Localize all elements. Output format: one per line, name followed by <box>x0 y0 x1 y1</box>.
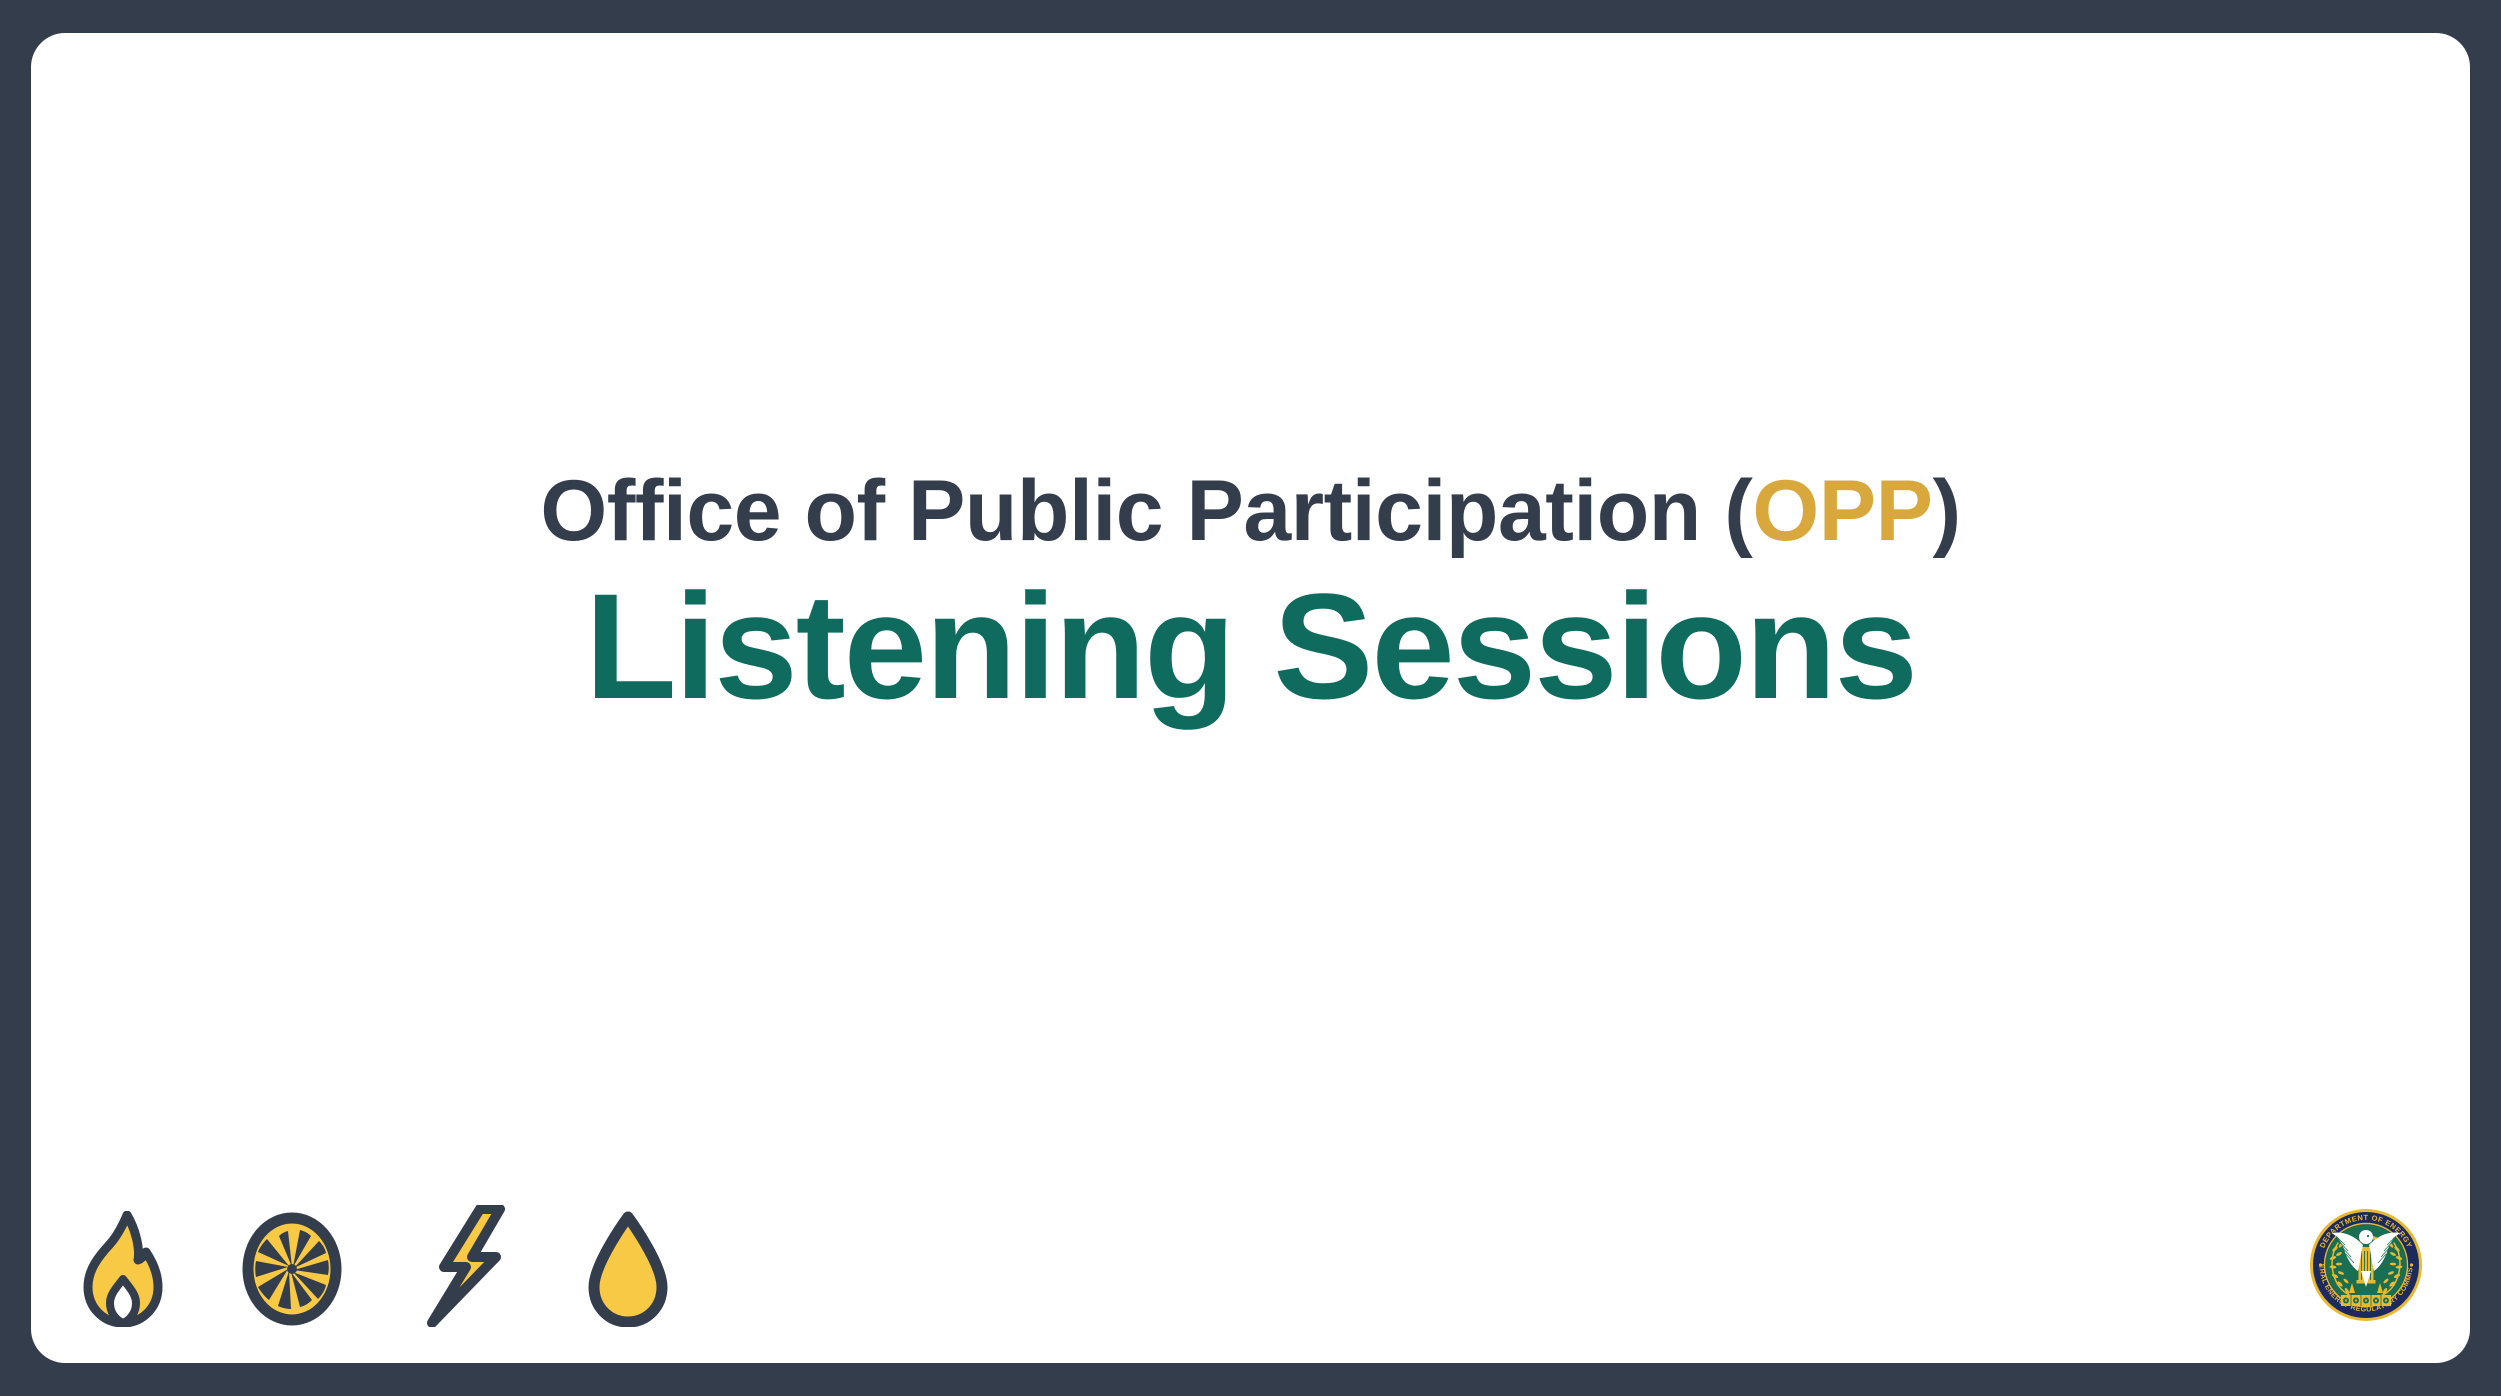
slide-title: Listening Sessions <box>31 567 2470 726</box>
slide-card: Office of Public Participation (OPP) Lis… <box>31 33 2470 1363</box>
turbine-icon <box>240 1211 344 1327</box>
opp-acronym: OPP <box>1752 463 1932 559</box>
droplet-icon <box>584 1211 672 1327</box>
flame-icon <box>80 1211 166 1327</box>
seal-symbol-bar <box>2341 1295 2391 1306</box>
slide-frame: Office of Public Participation (OPP) Lis… <box>0 0 2501 1396</box>
subtitle-suffix: ) <box>1933 463 1961 559</box>
bolt-icon <box>418 1205 510 1327</box>
subtitle-prefix: Office of Public Participation ( <box>540 463 1752 559</box>
slide-subtitle: Office of Public Participation (OPP) <box>31 463 2470 559</box>
energy-icon-strip <box>80 1207 672 1327</box>
title-block: Office of Public Participation (OPP) Lis… <box>31 463 2470 726</box>
agency-seal: DEPARTMENT OF ENERGY FEDERAL ENERGY REGU… <box>2308 1207 2424 1323</box>
